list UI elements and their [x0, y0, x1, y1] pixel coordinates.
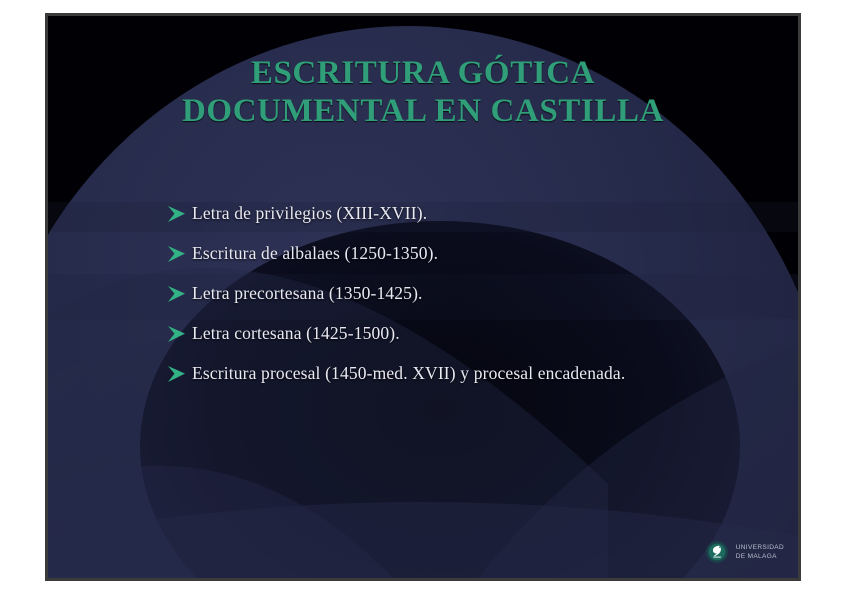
- chevron-right-icon: [166, 364, 192, 386]
- bullet-item: Escritura procesal (1450-med. XVII) y pr…: [166, 362, 726, 386]
- presentation-slide: ESCRITURA GÓTICA DOCUMENTAL EN CASTILLA …: [45, 13, 801, 581]
- bullet-text: Letra de privilegios (XIII-XVII).: [192, 202, 726, 225]
- bullet-text: Letra precortesana (1350-1425).: [192, 282, 726, 305]
- bullet-text: Letra cortesana (1425-1500).: [192, 322, 726, 345]
- bullet-item: Letra de privilegios (XIII-XVII).: [166, 202, 726, 226]
- chevron-right-icon: [166, 244, 192, 266]
- bullet-item: Letra precortesana (1350-1425).: [166, 282, 726, 306]
- chevron-right-icon: [166, 284, 192, 306]
- university-logo-text: UNIVERSIDAD DE MALAGA: [736, 543, 784, 562]
- screenshot-root: ESCRITURA GÓTICA DOCUMENTAL EN CASTILLA …: [0, 0, 848, 599]
- university-logo: UNIVERSIDAD DE MALAGA: [705, 540, 784, 564]
- university-logo-line-1: UNIVERSIDAD: [736, 543, 784, 552]
- bullet-text: Escritura procesal (1450-med. XVII) y pr…: [192, 362, 726, 385]
- bullet-text: Escritura de albalaes (1250-1350).: [192, 242, 726, 265]
- university-logo-line-2: DE MALAGA: [736, 552, 784, 561]
- slide-bullet-list: Letra de privilegios (XIII-XVII). Escrit…: [166, 202, 726, 386]
- bullet-item: Escritura de albalaes (1250-1350).: [166, 242, 726, 266]
- chevron-right-icon: [166, 204, 192, 226]
- bird-logo-icon: [705, 540, 729, 564]
- slide-title-line-2: DOCUMENTAL EN CASTILLA: [48, 92, 798, 130]
- bullet-item: Letra cortesana (1425-1500).: [166, 322, 726, 346]
- slide-title-line-1: ESCRITURA GÓTICA: [48, 54, 798, 92]
- slide-canvas: ESCRITURA GÓTICA DOCUMENTAL EN CASTILLA …: [48, 16, 798, 578]
- chevron-right-icon: [166, 324, 192, 346]
- slide-title: ESCRITURA GÓTICA DOCUMENTAL EN CASTILLA: [48, 54, 798, 131]
